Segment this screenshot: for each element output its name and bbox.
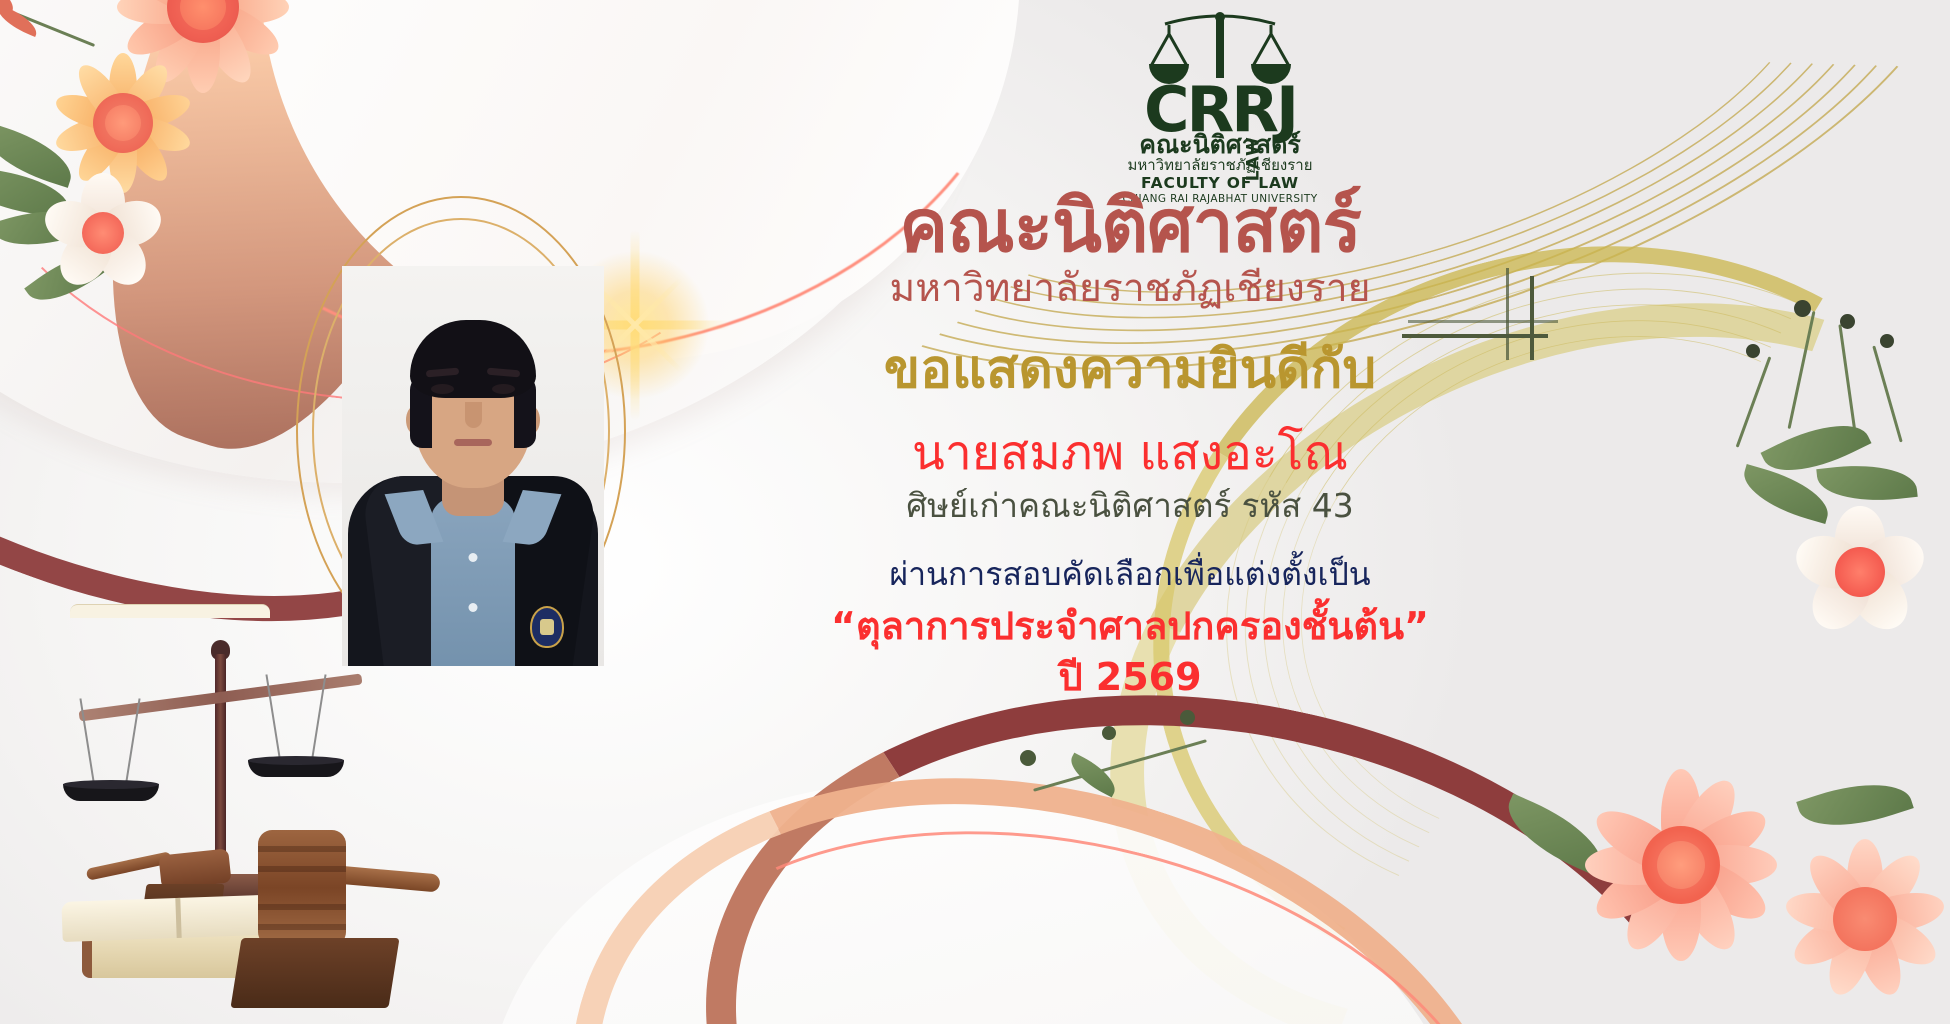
flower-icon bbox=[38, 38, 208, 208]
flower-icon bbox=[98, 0, 308, 112]
headline-university: มหาวิทยาลัยราชภัฏเชียงราย bbox=[660, 265, 1600, 314]
floral-corner-decoration bbox=[1470, 674, 1950, 1024]
flower-icon bbox=[1770, 824, 1950, 1014]
peach-ribbon-decoration bbox=[476, 660, 1624, 1024]
congratulations-banner: CRRJ LAW คณะนิติศาสตร์ มหาวิทยาลัยราชภัฏ… bbox=[0, 0, 1950, 1024]
flower-icon bbox=[28, 158, 178, 308]
honoree-position: “ตุลาการประจำศาลปกครองชั้นต้น” bbox=[660, 602, 1600, 651]
scales-gavel-books-illustration bbox=[40, 612, 440, 1024]
honoree-name: นายสมภพ แสงอะโณ bbox=[660, 423, 1600, 483]
white-ribbon-decoration bbox=[422, 703, 1539, 1024]
honoree-year: ปี 2569 bbox=[660, 653, 1600, 702]
headline-faculty: คณะนิติศาสตร์ bbox=[660, 190, 1600, 263]
avatar bbox=[296, 196, 626, 666]
faculty-logo: CRRJ LAW คณะนิติศาสตร์ มหาวิทยาลัยราชภัฏ… bbox=[1060, 8, 1380, 180]
logo-acronym: CRRJ LAW bbox=[1144, 82, 1296, 138]
portrait-photo bbox=[342, 266, 604, 666]
flower-icon bbox=[1566, 750, 1796, 980]
congratulations-text: ขอแสดงความยินดีกับ bbox=[660, 338, 1600, 402]
coral-line-decoration bbox=[566, 743, 1575, 1024]
achievement-intro: ผ่านการสอบคัดเลือกเพื่อแต่งตั้งเป็น bbox=[660, 554, 1600, 596]
honoree-affiliation: ศิษย์เก่าคณะนิติศาสตร์ รหัส 43 bbox=[660, 485, 1600, 528]
uniform-badge-icon bbox=[530, 606, 564, 648]
leaf-sprig-decoration bbox=[1010, 704, 1310, 844]
logo-university-th: มหาวิทยาลัยราชภัฏเชียงราย bbox=[1060, 157, 1380, 174]
logo-acronym-text: CRRJ bbox=[1144, 73, 1296, 146]
logo-law-text: LAW bbox=[1247, 136, 1262, 181]
flower-icon bbox=[1776, 488, 1944, 656]
floral-corner-decoration bbox=[1550, 300, 1950, 720]
cross-accent-decoration bbox=[1468, 268, 1568, 368]
banner-text-block: คณะนิติศาสตร์ มหาวิทยาลัยราชภัฏเชียงราย … bbox=[660, 190, 1600, 703]
